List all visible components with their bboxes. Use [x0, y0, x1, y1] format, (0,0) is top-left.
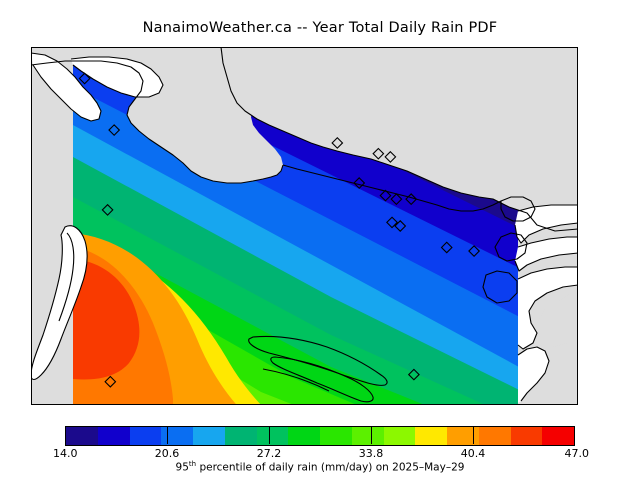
- colorbar-gradient: [65, 426, 575, 446]
- colorbar-tick-3: [371, 426, 372, 444]
- colorbar-segment-15: [542, 427, 574, 445]
- colorbar-tick-label-4: 40.4: [461, 447, 486, 460]
- page-title: NanaimoWeather.ca -- Year Total Daily Ra…: [0, 20, 640, 36]
- colorbar-tick-label-2: 27.2: [257, 447, 282, 460]
- colorbar-tick-label-1: 20.6: [155, 447, 180, 460]
- caption-number: 95: [176, 462, 189, 474]
- colorbar-segment-7: [288, 427, 320, 445]
- colorbar-segment-5: [225, 427, 257, 445]
- colorbar-tick-1: [167, 426, 168, 444]
- chart-root: NanaimoWeather.ca -- Year Total Daily Ra…: [0, 0, 640, 480]
- colorbar-segment-14: [511, 427, 543, 445]
- colorbar-segment-13: [479, 427, 511, 445]
- colorbar-tick-label-0: 14.0: [53, 447, 78, 460]
- colorbar-tick-labels: 14.020.627.233.840.447.0: [25, 447, 615, 461]
- colorbar-segment-6: [257, 427, 289, 445]
- colorbar-segment-8: [320, 427, 352, 445]
- colorbar-segment-9: [352, 427, 384, 445]
- colorbar-segment-1: [98, 427, 130, 445]
- colorbar-segment-0: [66, 427, 98, 445]
- colorbar-tick-2: [269, 426, 270, 444]
- caption-text: percentile of daily rain (mm/day) on 202…: [196, 462, 464, 474]
- colorbar-tick-4: [473, 426, 474, 444]
- colorbar-segment-2: [130, 427, 162, 445]
- colorbar-segment-4: [193, 427, 225, 445]
- colorbar-tick-label-5: 47.0: [565, 447, 590, 460]
- colorbar-segment-11: [415, 427, 447, 445]
- colorbar-segment-3: [161, 427, 193, 445]
- plot-frame: [31, 47, 578, 405]
- map-plot-area: [31, 47, 578, 405]
- colorbar: [65, 426, 575, 446]
- colorbar-tick-label-3: 33.8: [359, 447, 384, 460]
- colorbar-segment-10: [384, 427, 416, 445]
- colorbar-caption: 95th percentile of daily rain (mm/day) o…: [0, 460, 640, 474]
